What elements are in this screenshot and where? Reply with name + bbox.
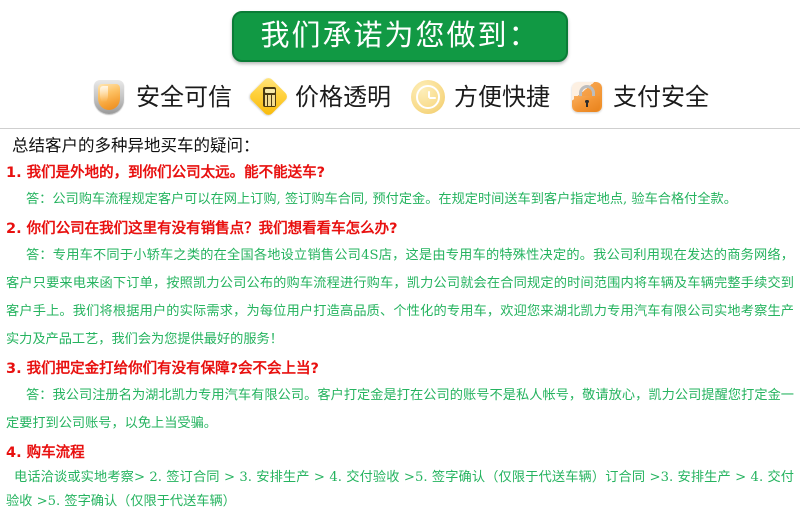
banner-row: 我们承诺为您做到：	[0, 0, 800, 66]
header-divider	[0, 128, 800, 129]
faq-question-3: 3. 我们把定金打给你们有没有保障?会不会上当?	[6, 358, 794, 380]
section-title: 总结客户的多种异地买车的疑问：	[12, 134, 794, 158]
clock-icon	[409, 78, 447, 116]
promise-banner: 我们承诺为您做到：	[232, 11, 567, 62]
calculator-icon	[250, 78, 288, 116]
feature-label-convenience: 方便快捷	[454, 84, 550, 110]
feature-item-price: 价格透明	[250, 78, 391, 116]
banner-title: 我们承诺为您做到：	[260, 18, 539, 52]
faq-content: 总结客户的多种异地买车的疑问： 1. 我们是外地的，到你们公司太远。能不能送车?…	[0, 134, 800, 514]
faq-question-2: 2. 你们公司在我们这里有没有销售点？我们想看看车怎么办?	[6, 218, 794, 240]
faq-question-1: 1. 我们是外地的，到你们公司太远。能不能送车?	[6, 162, 794, 184]
faq-answer-1: 答：公司购车流程规定客户可以在网上订购, 签订购车合同, 预付定金。在规定时间送…	[6, 186, 794, 214]
feature-item-convenience: 方便快捷	[409, 78, 550, 116]
faq-answer-3: 答：我公司注册名为湖北凯力专用汽车有限公司。客户打定金是打在公司的账号不是私人帐…	[6, 382, 794, 438]
feature-label-security: 安全可信	[136, 84, 232, 110]
faq-answer-2: 答：专用车不同于小轿车之类的在全国各地设立销售公司4S店，这是由专用车的特殊性决…	[6, 242, 794, 354]
feature-label-price: 价格透明	[295, 84, 391, 110]
process-title: 4. 购车流程	[6, 442, 794, 464]
process-steps: 电话洽谈或实地考察> 2. 签订合同 > 3. 安排生产 > 4. 交付验收 >…	[6, 466, 794, 514]
shield-icon	[91, 78, 129, 116]
promo-page: 我们承诺为您做到： 安全可信 价格透明	[0, 0, 800, 505]
padlock-icon	[568, 78, 606, 116]
feature-item-security: 安全可信	[91, 78, 232, 116]
feature-item-payment: 支付安全	[568, 78, 709, 116]
feature-label-payment: 支付安全	[613, 84, 709, 110]
feature-row: 安全可信 价格透明 方便快捷	[0, 70, 800, 124]
